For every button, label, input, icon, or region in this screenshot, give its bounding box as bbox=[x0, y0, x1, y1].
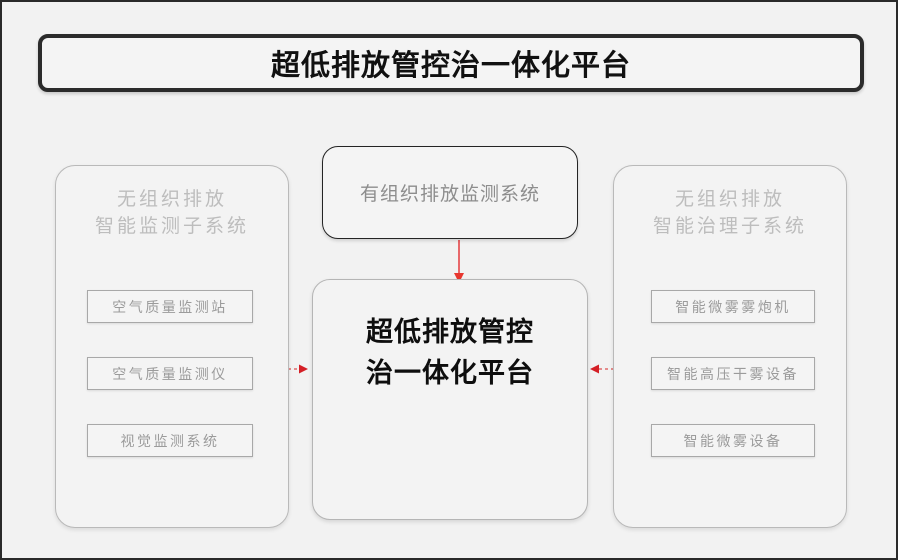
right-item-micro-mist-device[interactable]: 智能微雾设备 bbox=[651, 424, 815, 457]
left-item-label: 视觉监测系统 bbox=[121, 431, 220, 451]
right-item-mist-cannon[interactable]: 智能微雾雾炮机 bbox=[651, 290, 815, 323]
right-panel-title: 无组织排放 智能治理子系统 bbox=[614, 186, 846, 240]
left-item-air-quality-monitor[interactable]: 空气质量监测仪 bbox=[87, 357, 253, 390]
right-subsystem-panel: 无组织排放 智能治理子系统 智能微雾雾炮机 智能高压干雾设备 智能微雾设备 bbox=[613, 165, 847, 528]
left-panel-title: 无组织排放 智能监测子系统 bbox=[56, 186, 288, 240]
central-platform-box[interactable]: 超低排放管控 治一体化平台 bbox=[312, 279, 588, 520]
organized-emission-monitoring-box[interactable]: 有组织排放监测系统 bbox=[322, 146, 578, 239]
right-item-label: 智能高压干雾设备 bbox=[667, 364, 799, 384]
page-title: 超低排放管控治一体化平台 bbox=[271, 42, 631, 84]
right-item-label: 智能微雾设备 bbox=[684, 431, 783, 451]
right-item-high-pressure-dry-fog[interactable]: 智能高压干雾设备 bbox=[651, 357, 815, 390]
left-subsystem-panel: 无组织排放 智能监测子系统 空气质量监测站 空气质量监测仪 视觉监测系统 bbox=[55, 165, 289, 528]
central-platform-label-line2: 治一体化平台 bbox=[313, 353, 587, 394]
central-platform-label-line1: 超低排放管控 bbox=[366, 317, 534, 347]
right-panel-title-line2: 智能治理子系统 bbox=[614, 213, 846, 240]
left-panel-title-line2: 智能监测子系统 bbox=[56, 213, 288, 240]
organized-emission-monitoring-label: 有组织排放监测系统 bbox=[360, 179, 540, 206]
central-platform-label: 超低排放管控 治一体化平台 bbox=[313, 312, 587, 394]
platform-title-box: 超低排放管控治一体化平台 bbox=[38, 34, 864, 92]
left-panel-title-line1: 无组织排放 bbox=[117, 189, 227, 210]
diagram-canvas: 超低排放管控治一体化平台 bbox=[0, 0, 898, 560]
right-item-label: 智能微雾雾炮机 bbox=[675, 297, 791, 317]
left-item-visual-monitoring-system[interactable]: 视觉监测系统 bbox=[87, 424, 253, 457]
left-item-air-quality-station[interactable]: 空气质量监测站 bbox=[87, 290, 253, 323]
right-panel-title-line1: 无组织排放 bbox=[675, 189, 785, 210]
left-item-label: 空气质量监测仪 bbox=[112, 364, 228, 384]
left-item-label: 空气质量监测站 bbox=[112, 297, 228, 317]
